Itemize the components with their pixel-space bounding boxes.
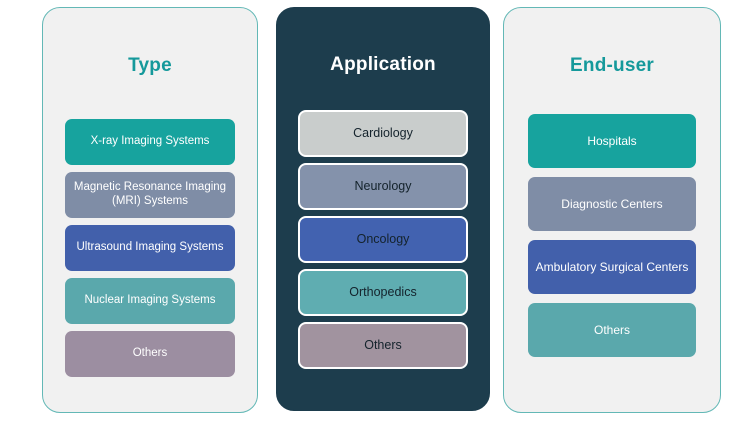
segment-item-label: Nuclear Imaging Systems [84, 294, 215, 308]
segmentation-diagram: Type X-ray Imaging SystemsMagnetic Reson… [0, 0, 751, 441]
segment-panel-type: Type X-ray Imaging SystemsMagnetic Reson… [42, 7, 258, 413]
segment-item-application-4[interactable]: Others [298, 322, 468, 369]
segment-item-label: Others [594, 323, 630, 337]
segment-item-application-2[interactable]: Oncology [298, 216, 468, 263]
segment-item-application-0[interactable]: Cardiology [298, 110, 468, 157]
segment-item-label: Others [133, 347, 168, 361]
segment-item-type-0[interactable]: X-ray Imaging Systems [65, 119, 235, 165]
segment-panel-application: Application CardiologyNeurologyOncologyO… [276, 7, 490, 411]
segment-list-enduser: HospitalsDiagnostic CentersAmbulatory Su… [504, 114, 720, 357]
segment-item-label: Ambulatory Surgical Centers [536, 260, 689, 274]
segment-item-label: Magnetic Resonance Imaging (MRI) Systems [72, 181, 228, 208]
segment-item-label: Orthopedics [349, 285, 416, 300]
segment-item-label: X-ray Imaging Systems [91, 135, 210, 149]
panel-title-enduser: End-user [504, 55, 720, 77]
segment-item-label: Hospitals [587, 134, 636, 148]
segment-item-label: Neurology [355, 179, 412, 194]
segment-item-application-3[interactable]: Orthopedics [298, 269, 468, 316]
segment-item-type-2[interactable]: Ultrasound Imaging Systems [65, 225, 235, 271]
segment-item-label: Cardiology [353, 126, 413, 141]
segment-item-enduser-2[interactable]: Ambulatory Surgical Centers [528, 240, 696, 294]
segment-item-label: Ultrasound Imaging Systems [76, 241, 223, 255]
segment-item-enduser-3[interactable]: Others [528, 303, 696, 357]
segment-item-type-3[interactable]: Nuclear Imaging Systems [65, 278, 235, 324]
segment-item-label: Diagnostic Centers [561, 197, 662, 211]
segment-item-type-1[interactable]: Magnetic Resonance Imaging (MRI) Systems [65, 172, 235, 218]
segment-item-label: Others [364, 338, 402, 353]
segment-item-label: Oncology [357, 232, 410, 247]
segment-item-type-4[interactable]: Others [65, 331, 235, 377]
panel-title-application: Application [277, 54, 489, 76]
segment-list-type: X-ray Imaging SystemsMagnetic Resonance … [43, 119, 257, 377]
segment-item-enduser-0[interactable]: Hospitals [528, 114, 696, 168]
segment-item-application-1[interactable]: Neurology [298, 163, 468, 210]
panel-title-type: Type [43, 55, 257, 77]
segment-panel-enduser: End-user HospitalsDiagnostic CentersAmbu… [503, 7, 721, 413]
segment-item-enduser-1[interactable]: Diagnostic Centers [528, 177, 696, 231]
segment-list-application: CardiologyNeurologyOncologyOrthopedicsOt… [277, 110, 489, 369]
